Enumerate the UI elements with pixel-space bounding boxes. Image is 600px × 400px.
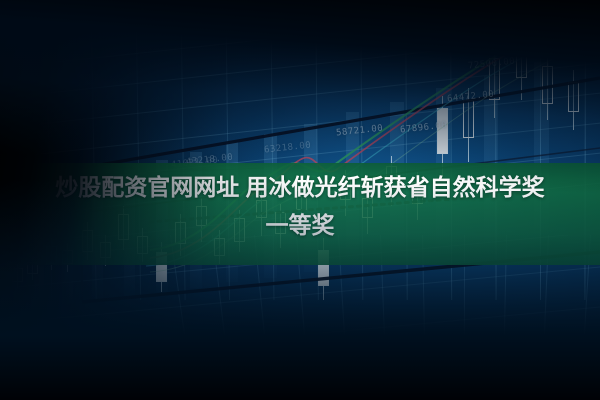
price-label: 58721.00 [336,124,384,139]
price-label: 94567.00 [497,31,545,46]
headline-line-2: 一等奖 [8,206,592,244]
stock-chart-banner: 94567.0072500.0064472.0067896.0058721.00… [0,0,600,400]
price-label: 67896.00 [400,121,448,136]
price-label: 63218.00 [264,141,312,156]
headline-text: 炒股配资官网网址 用冰做光纤斩获省自然科学奖 一等奖 [0,168,600,244]
price-label: 72500.00 [468,57,516,72]
price-label: 64472.00 [447,90,495,105]
headline-line-1: 炒股配资官网网址 用冰做光纤斩获省自然科学奖 [55,174,544,200]
